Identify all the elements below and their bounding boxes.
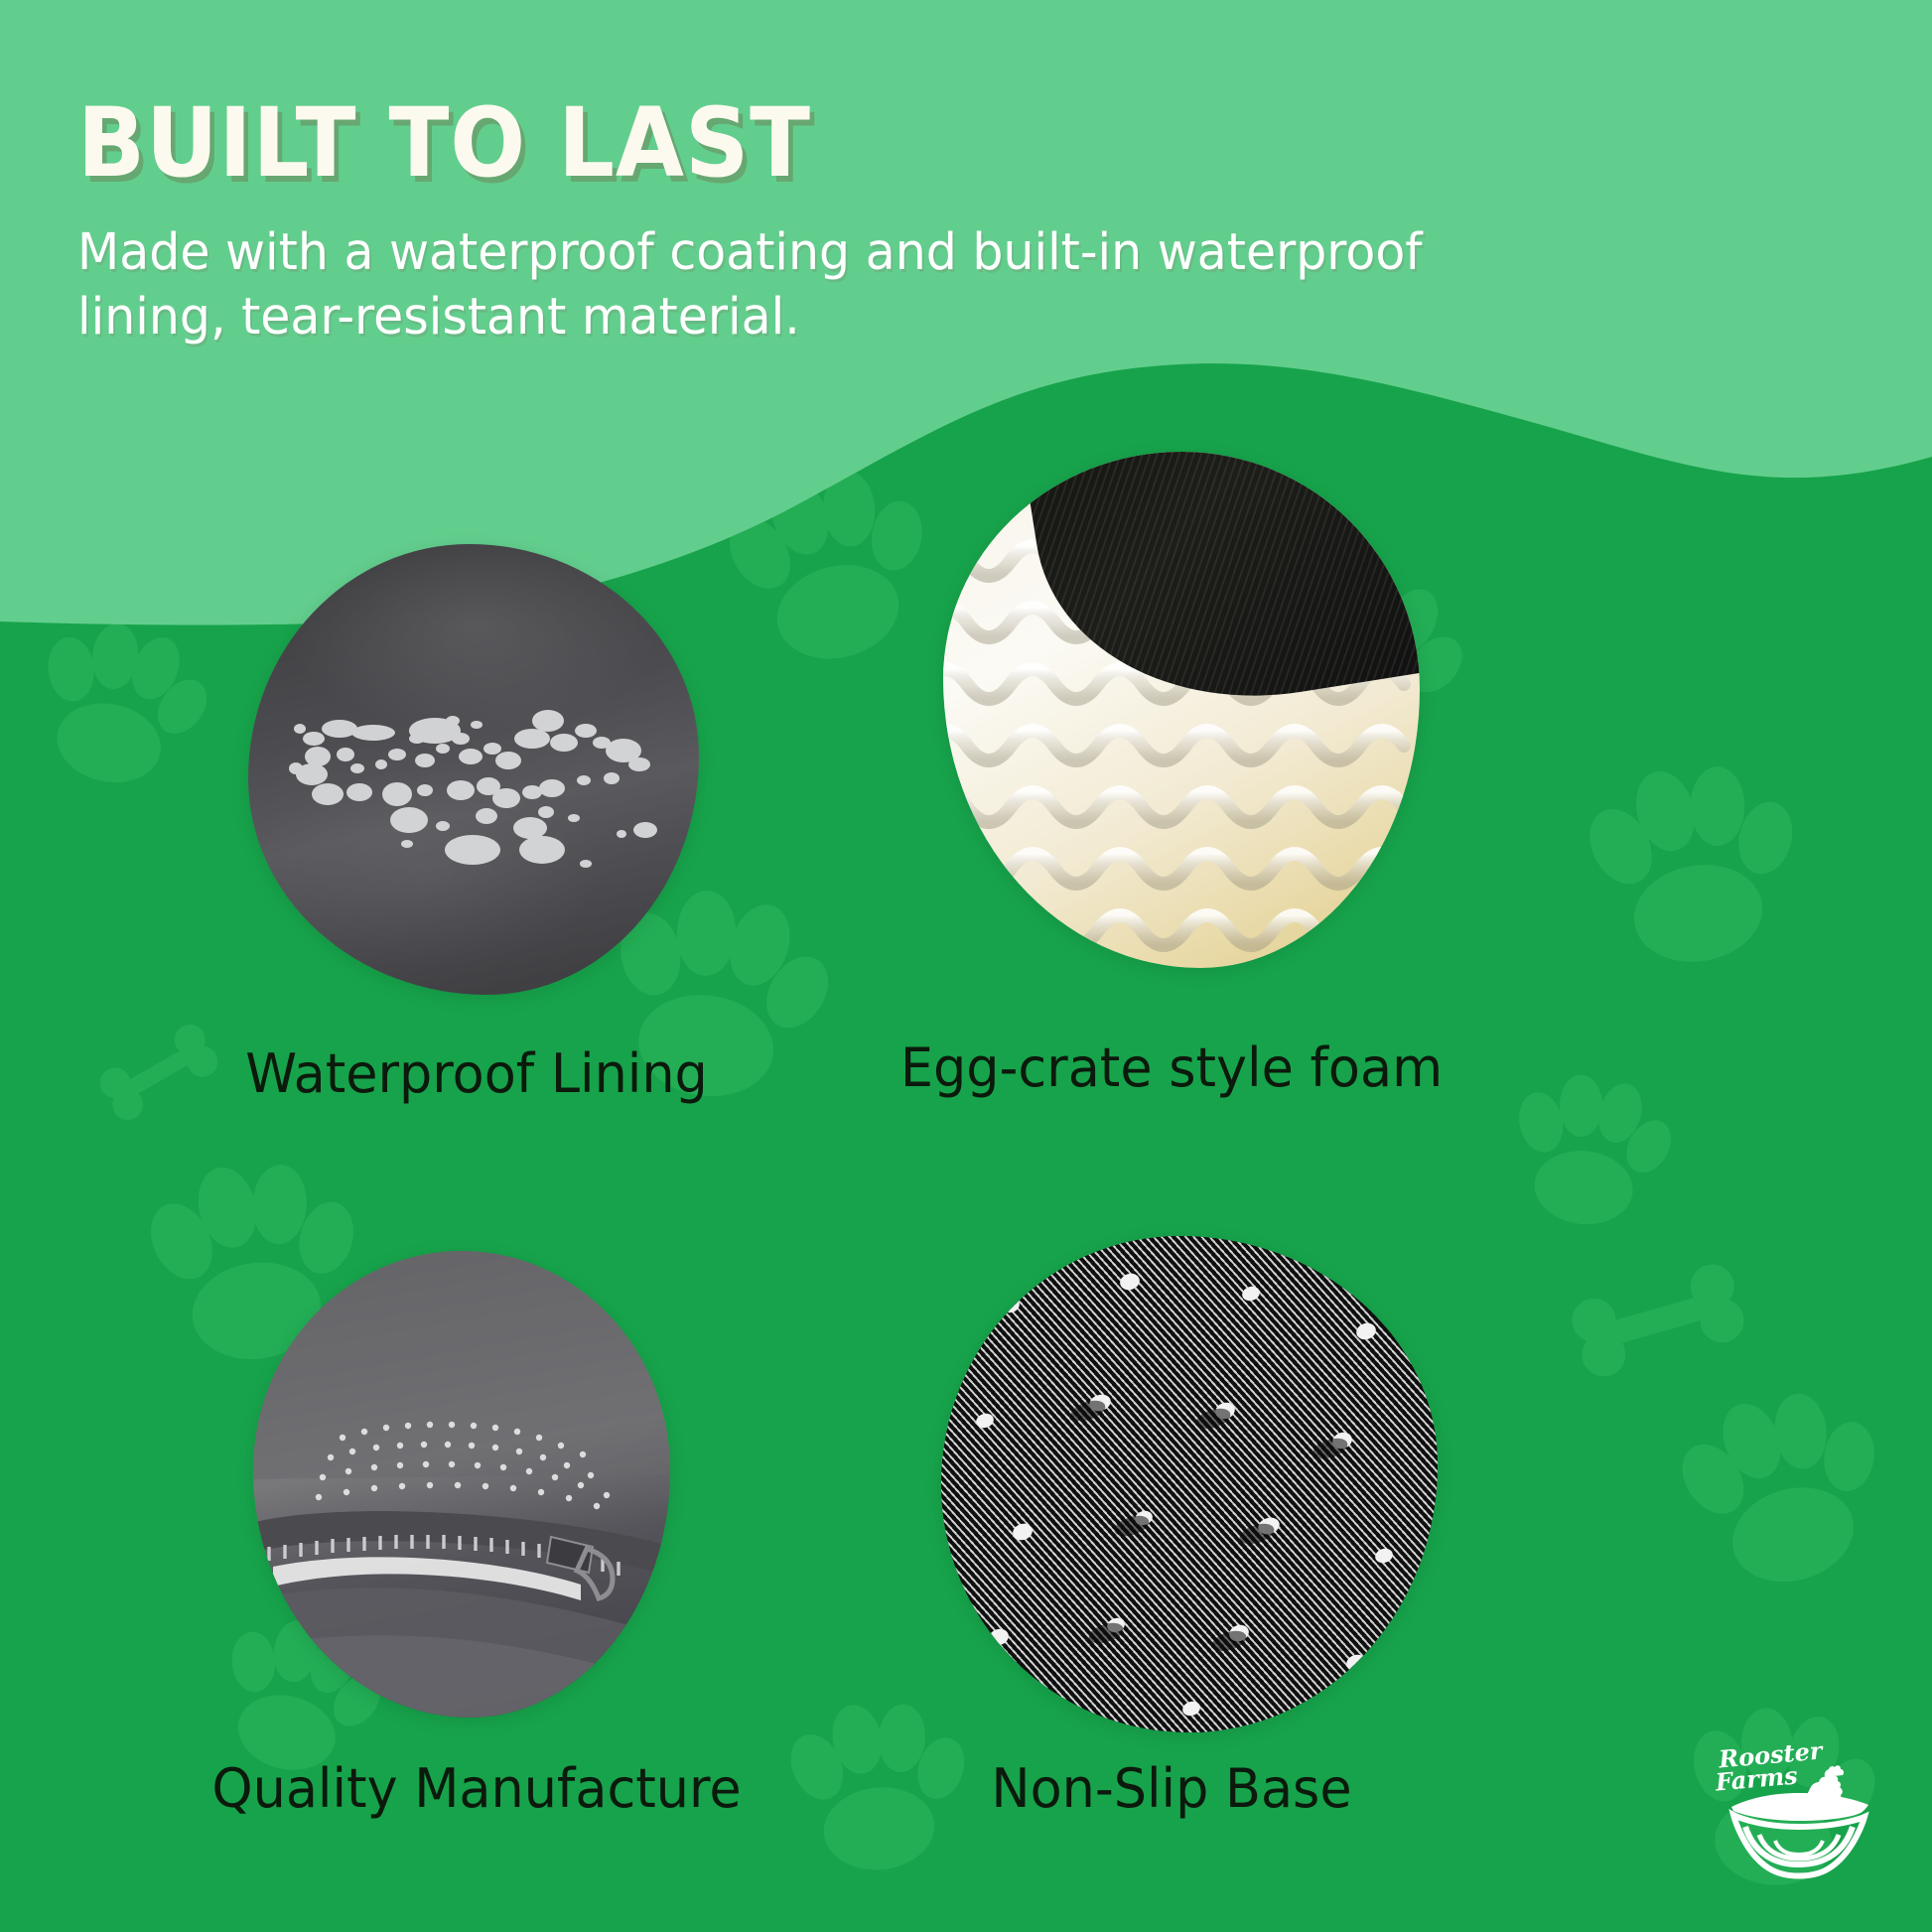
grip-dots <box>941 1236 1438 1732</box>
feature-card-quality-manufacture: Quality Manufacture <box>169 1221 784 1916</box>
infographic-canvas: BUILT TO LAST Made with a waterproof coa… <box>0 0 1932 1932</box>
page-subtitle: Made with a waterproof coating and built… <box>77 220 1488 350</box>
feature-label: Non-Slip Base <box>864 1757 1480 1820</box>
brand-logo: Rooster Farms <box>1714 1741 1882 1890</box>
feature-image-wrap <box>854 1221 1489 1747</box>
feature-card-egg-crate-foam: Egg-crate style foam <box>854 467 1489 1201</box>
feature-label: Egg-crate style foam <box>864 1036 1480 1099</box>
rooster-farms-logo-mark: Rooster Farms <box>1714 1741 1882 1890</box>
feature-image-wrap <box>854 467 1489 993</box>
page-title: BUILT TO LAST <box>77 95 1462 191</box>
waterproof-lining-photo <box>248 544 699 995</box>
water-droplets <box>248 544 699 995</box>
feature-image-wrap <box>169 1221 784 1747</box>
feature-label: Quality Manufacture <box>178 1757 774 1820</box>
header-block: BUILT TO LAST Made with a waterproof coa… <box>77 95 1567 350</box>
feature-card-waterproof-lining: Waterproof Lining <box>169 506 784 1201</box>
feature-image-wrap <box>169 506 784 1033</box>
egg-crate-foam-photo <box>943 452 1420 968</box>
zipper-and-stitching <box>253 1251 670 1718</box>
quality-manufacture-zipper-photo <box>253 1251 670 1718</box>
feature-grid: Waterproof Lining <box>0 467 1932 1932</box>
non-slip-base-photo <box>941 1236 1438 1732</box>
feature-card-non-slip-base: Non-Slip Base <box>854 1221 1489 1916</box>
feature-label: Waterproof Lining <box>178 1042 774 1105</box>
